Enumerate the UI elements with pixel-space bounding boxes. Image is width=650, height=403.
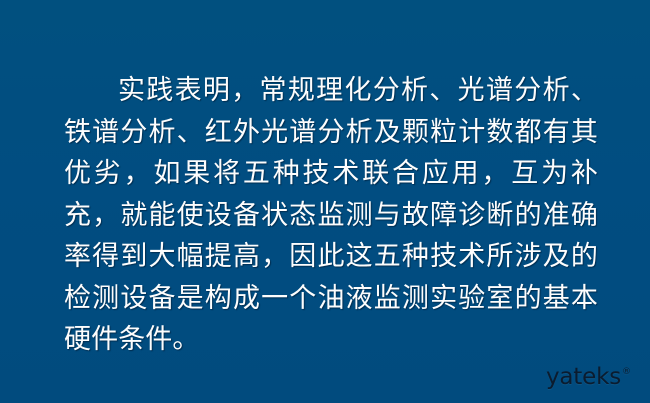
logo-wordmark: yateks — [546, 366, 621, 389]
body-paragraph: 实践表明，常规理化分析、光谱分析、铁谱分析、红外光谱分析及颗粒计数都有其优劣，如… — [64, 70, 598, 361]
presentation-slide: 实践表明，常规理化分析、光谱分析、铁谱分析、红外光谱分析及颗粒计数都有其优劣，如… — [0, 0, 650, 403]
yateks-logo: yateks ® — [546, 366, 631, 389]
registered-trademark-icon: ® — [622, 368, 631, 377]
slide-body-text: 实践表明，常规理化分析、光谱分析、铁谱分析、红外光谱分析及颗粒计数都有其优劣，如… — [64, 70, 598, 361]
